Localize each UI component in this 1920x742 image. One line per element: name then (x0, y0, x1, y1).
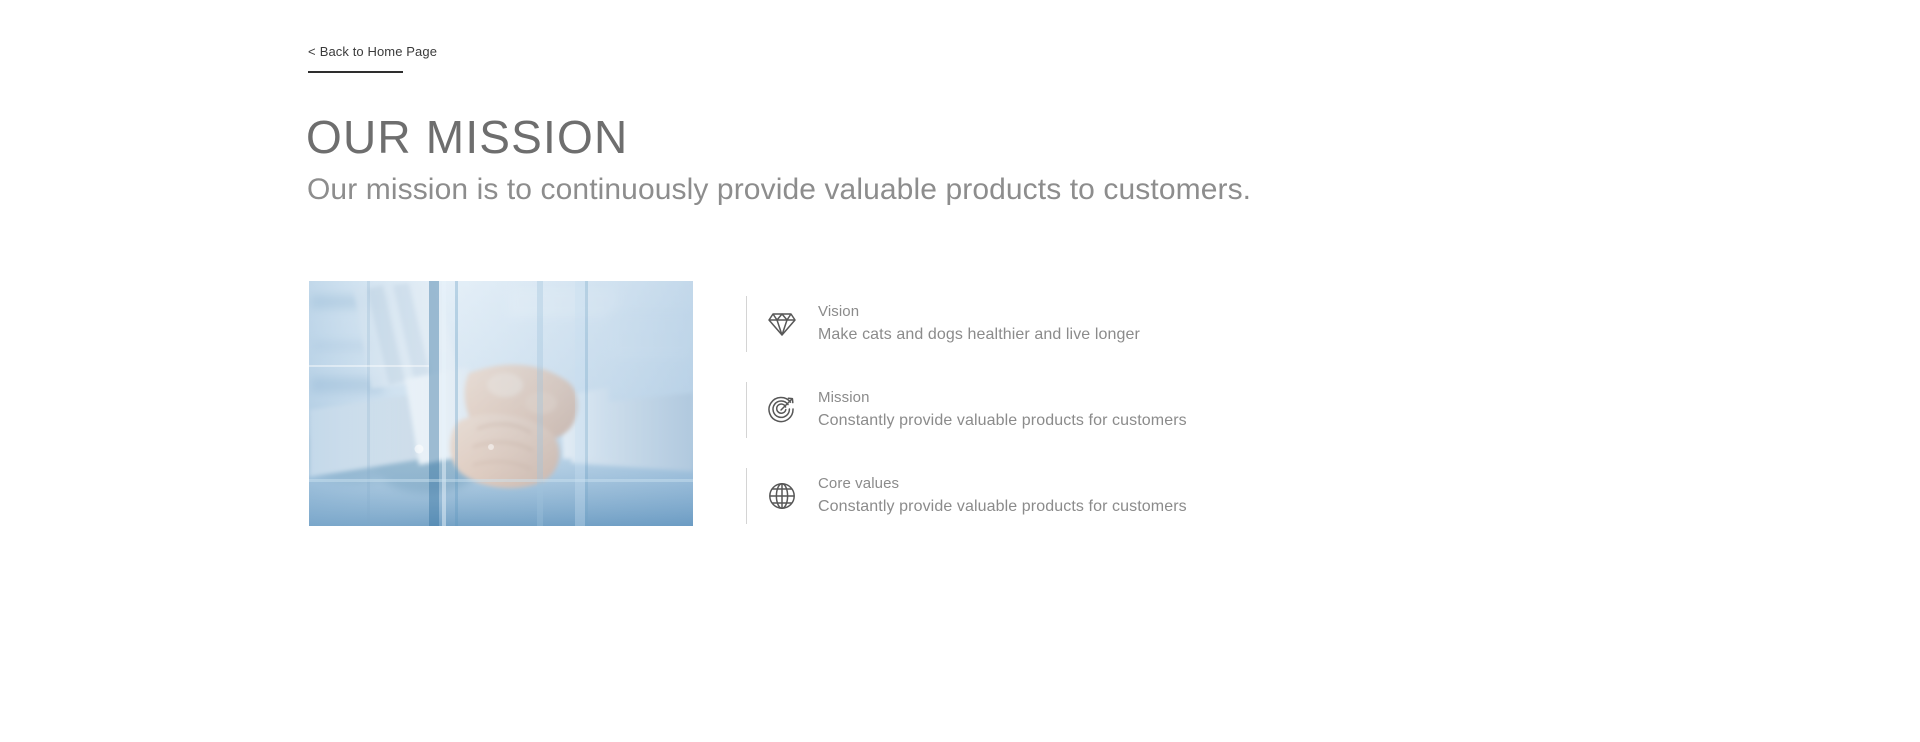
feature-list: Vision Make cats and dogs healthier and … (746, 296, 1366, 524)
handshake-photo (309, 281, 693, 526)
page-root: < Back to Home Page OUR MISSION Our miss… (0, 0, 1920, 742)
feature-divider (746, 296, 747, 352)
feature-description: Make cats and dogs healthier and live lo… (818, 323, 1140, 348)
globe-icon (764, 478, 800, 514)
back-to-home-label: Back to Home Page (320, 44, 437, 59)
page-title: OUR MISSION (306, 113, 628, 161)
feature-description: Constantly provide valuable products for… (818, 409, 1187, 434)
back-to-home-link[interactable]: < Back to Home Page (308, 44, 437, 59)
target-icon (764, 392, 800, 428)
feature-divider (746, 382, 747, 438)
feature-title: Core values (818, 472, 1187, 495)
feature-title: Vision (818, 300, 1140, 323)
feature-divider (746, 468, 747, 524)
feature-item-core-values[interactable]: Core values Constantly provide valuable … (746, 468, 1366, 524)
back-link-underline (308, 71, 403, 73)
page-subtitle: Our mission is to continuously provide v… (307, 172, 1251, 208)
feature-description: Constantly provide valuable products for… (818, 495, 1187, 520)
feature-item-mission[interactable]: Mission Constantly provide valuable prod… (746, 382, 1366, 438)
diamond-icon (764, 306, 800, 342)
chevron-left-icon: < (308, 45, 316, 58)
feature-title: Mission (818, 386, 1187, 409)
feature-item-vision[interactable]: Vision Make cats and dogs healthier and … (746, 296, 1366, 352)
